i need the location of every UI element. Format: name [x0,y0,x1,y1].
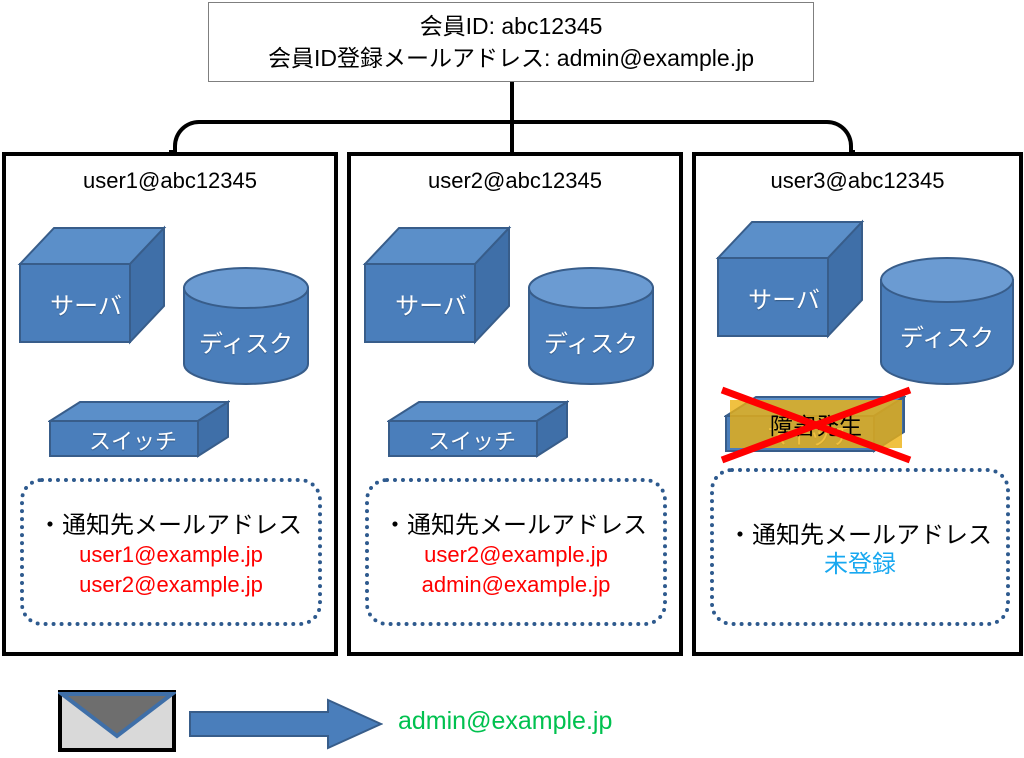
user-panel: user1@abc12345 サーバ ディスク スイッチ [2,152,338,656]
user-panel: user3@abc12345 サーバ ディスク スイッチ [692,152,1023,656]
panel-title: user2@abc12345 [351,168,679,194]
server-icon: サーバ [363,224,511,344]
disk-icon: ディスク [878,256,1016,386]
legend-destination-mail: admin@example.jp [398,707,612,736]
member-mail-text: 会員ID登録メールアドレス: admin@example.jp [268,43,754,73]
notification-box: ・通知先メールアドレス user2@example.jp admin@examp… [365,478,667,626]
server-icon: サーバ [716,218,864,338]
notification-address: user2@example.jp [79,570,263,600]
user-panel: user2@abc12345 サーバ ディスク スイッチ [347,152,683,656]
notification-address: user2@example.jp [424,540,608,570]
switch-icon: スイッチ [387,399,569,461]
notification-heading: ・通知先メールアドレス [38,505,302,540]
member-id-box: 会員ID: abc12345 会員ID登録メールアドレス: admin@exam… [208,2,814,82]
server-icon: サーバ [18,224,166,344]
notification-heading: ・通知先メールアドレス [728,515,992,550]
notification-heading: ・通知先メールアドレス [383,505,647,540]
member-id-text: 会員ID: abc12345 [420,11,603,41]
disk-icon: ディスク [181,266,311,386]
notification-address: 未登録 [824,550,896,580]
panel-title: user1@abc12345 [6,168,334,194]
panel-title: user3@abc12345 [696,168,1019,194]
notification-address: admin@example.jp [422,570,611,600]
envelope-icon [58,690,176,752]
notification-box: ・通知先メールアドレス 未登録 [710,468,1010,626]
switch-icon: スイッチ [48,399,230,461]
switch-icon: スイッチ [724,394,906,456]
notification-address: user1@example.jp [79,540,263,570]
disk-icon: ディスク [526,266,656,386]
right-arrow-icon [188,698,383,750]
diagram-canvas: 会員ID: abc12345 会員ID登録メールアドレス: admin@exam… [0,0,1024,758]
notification-box: ・通知先メールアドレス user1@example.jp user2@examp… [20,478,322,626]
